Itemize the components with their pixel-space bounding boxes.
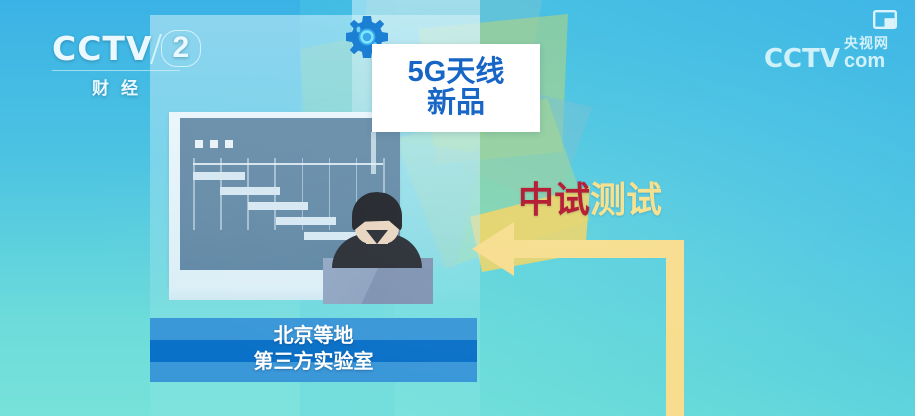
flow-label: 中试测试	[518, 182, 662, 218]
screen-window-dots	[195, 140, 233, 148]
window-dot	[195, 140, 203, 148]
banner-stripe-top	[150, 318, 477, 340]
watermark-mark: CCTV	[764, 48, 840, 71]
card-line-1: 5G天线	[408, 57, 505, 88]
channel-logo-number: 2	[161, 30, 202, 67]
channel-logo: CCTV 2 财经	[52, 30, 201, 99]
gantt-bar	[193, 172, 245, 180]
gantt-bar	[220, 187, 280, 195]
picture-in-picture-icon	[873, 10, 897, 29]
gantt-gridline	[193, 158, 195, 230]
banner-stripe-mid	[150, 340, 477, 362]
5g-new-product-card: 5G天线 新品	[372, 44, 540, 132]
video-frame: CCTV 2 财经 CCTV 央视网 com	[0, 0, 915, 416]
flow-label-red: 中试	[518, 179, 590, 220]
flow-arrow	[462, 216, 722, 416]
watermark-com: com	[844, 51, 885, 71]
flow-label-yellow: 测试	[590, 179, 662, 220]
watermark-cn: 央视网	[844, 36, 889, 50]
channel-logo-mark: CCTV	[52, 32, 153, 65]
cctv-com-watermark: CCTV 央视网 com	[764, 36, 889, 71]
gantt-bar	[276, 217, 336, 225]
window-dot	[225, 140, 233, 148]
location-banner	[150, 318, 477, 382]
gantt-bar	[248, 202, 308, 210]
banner-stripe-bottom	[150, 362, 477, 382]
card-line-2: 新品	[427, 88, 485, 119]
channel-logo-subtitle: 财经	[52, 70, 180, 99]
card-pole	[371, 132, 376, 174]
window-dot	[210, 140, 218, 148]
